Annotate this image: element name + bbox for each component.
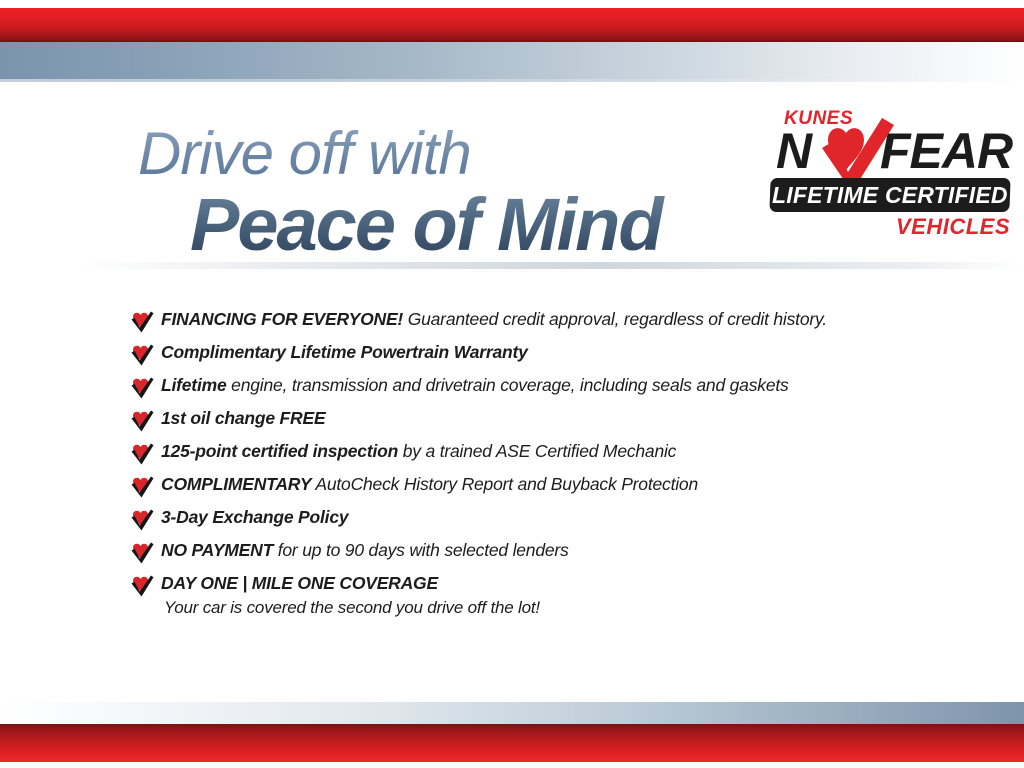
list-item-bold: Complimentary Lifetime Powertrain Warran…	[161, 342, 528, 362]
list-item: NO PAYMENT for up to 90 days with select…	[130, 540, 960, 564]
kunes-no-fear-logo: KUNES N FEAR LIFETIME CERTIFIED VEHICLES	[770, 108, 1016, 248]
benefits-list: FINANCING FOR EVERYONE! Guaranteed credi…	[130, 309, 960, 627]
list-item-bold: 125-point certified inspection	[161, 441, 398, 461]
list-item-text: DAY ONE | MILE ONE COVERAGE	[161, 573, 540, 594]
top-red-bar	[0, 8, 1024, 42]
list-item-text: Lifetime engine, transmission and drivet…	[161, 375, 789, 396]
list-item: Complimentary Lifetime Powertrain Warran…	[130, 342, 960, 366]
list-item-text: 1st oil change FREE	[161, 408, 325, 429]
logo-word-fear: FEAR	[880, 126, 1012, 176]
headline-line-2: Peace of Mind	[190, 188, 758, 262]
promotional-banner: Drive off with Peace of Mind KUNES N FEA…	[0, 0, 1024, 768]
list-item-rest: engine, transmission and drivetrain cove…	[227, 375, 789, 395]
logo-lifetime-certified-bar: LIFETIME CERTIFIED	[769, 178, 1010, 212]
heart-check-icon	[130, 542, 154, 564]
bottom-gray-bar	[0, 702, 1024, 724]
list-item-text: 3-Day Exchange Policy	[161, 507, 348, 528]
heart-check-icon	[130, 377, 154, 399]
logo-letter-n: N	[776, 126, 810, 176]
list-item: COMPLIMENTARY AutoCheck History Report a…	[130, 474, 960, 498]
bottom-red-bar	[0, 724, 1024, 762]
logo-no-fear-wordmark: N FEAR	[776, 124, 1016, 180]
logo-vehicles-text: VEHICLES	[896, 214, 1010, 240]
list-item-subtext: Your car is covered the second you drive…	[164, 597, 540, 618]
list-item-text: FINANCING FOR EVERYONE! Guaranteed credi…	[161, 309, 827, 330]
list-item-text: COMPLIMENTARY AutoCheck History Report a…	[161, 474, 698, 495]
list-item-rest: AutoCheck History Report and Buyback Pro…	[311, 474, 698, 494]
top-gray-bar	[0, 42, 1024, 82]
heart-check-icon	[130, 476, 154, 498]
list-item-bold: FINANCING FOR EVERYONE!	[161, 309, 403, 329]
heart-check-icon	[130, 443, 154, 465]
heart-check-icon	[130, 509, 154, 531]
list-item-bold: DAY ONE | MILE ONE COVERAGE	[161, 573, 438, 593]
list-item-rest: by a trained ASE Certified Mechanic	[398, 441, 676, 461]
logo-lifetime-certified-text: LIFETIME CERTIFIED	[772, 182, 1008, 209]
list-item-rest: Guaranteed credit approval, regardless o…	[403, 309, 827, 329]
headline-line-1: Drive off with	[138, 124, 758, 184]
list-item-rest: for up to 90 days with selected lenders	[273, 540, 569, 560]
list-item-bold: COMPLIMENTARY	[161, 474, 311, 494]
section-divider	[80, 262, 1024, 269]
heart-check-icon	[130, 575, 154, 597]
list-item-text: Complimentary Lifetime Powertrain Warran…	[161, 342, 528, 363]
heart-check-icon	[130, 344, 154, 366]
heart-check-icon	[130, 410, 154, 432]
list-item-bold: Lifetime	[161, 375, 227, 395]
list-item: 125-point certified inspection by a trai…	[130, 441, 960, 465]
list-item-text: NO PAYMENT for up to 90 days with select…	[161, 540, 569, 561]
list-item: 3-Day Exchange Policy	[130, 507, 960, 531]
list-item: Lifetime engine, transmission and drivet…	[130, 375, 960, 399]
list-item: FINANCING FOR EVERYONE! Guaranteed credi…	[130, 309, 960, 333]
list-item-text: 125-point certified inspection by a trai…	[161, 441, 676, 462]
heart-check-icon	[130, 311, 154, 333]
list-item-bold: NO PAYMENT	[161, 540, 273, 560]
list-item: DAY ONE | MILE ONE COVERAGE Your car is …	[130, 573, 960, 618]
list-item-bold: 1st oil change FREE	[161, 408, 325, 428]
list-item: 1st oil change FREE	[130, 408, 960, 432]
list-item-bold: 3-Day Exchange Policy	[161, 507, 348, 527]
headline-block: Drive off with Peace of Mind	[138, 124, 758, 262]
